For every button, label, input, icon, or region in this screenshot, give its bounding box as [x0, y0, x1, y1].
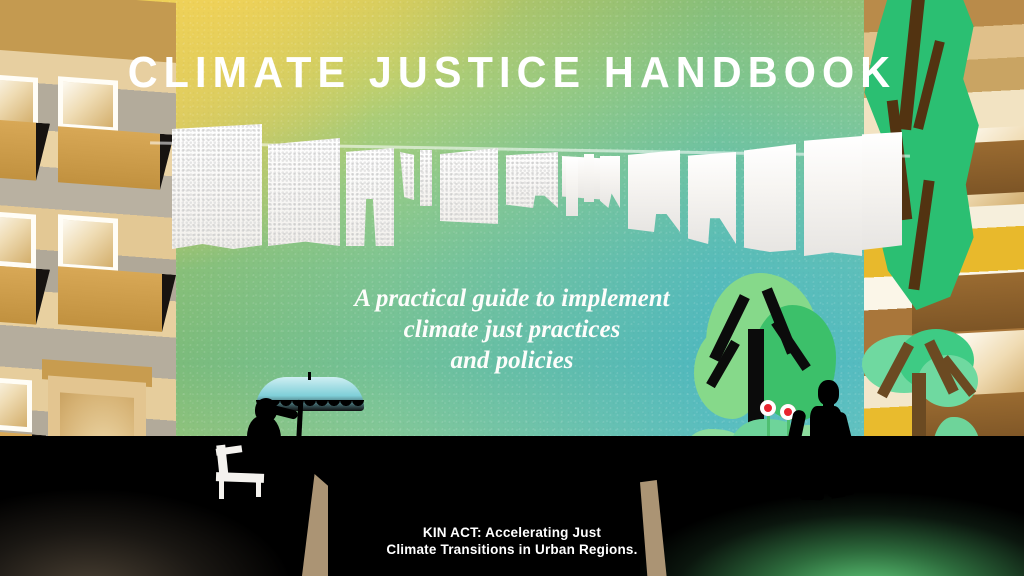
cover-caption: KIN ACT: Accelerating Just Climate Trans…: [0, 524, 1024, 558]
laundry-item-towel: [744, 144, 796, 252]
laundry-item-towel: [506, 152, 558, 208]
flower-head: [760, 400, 776, 416]
man-shoe: [800, 492, 824, 500]
laundry-item-shirt: [440, 148, 498, 224]
window: [0, 377, 32, 433]
laundry-item-trousers: [600, 156, 620, 208]
chair-leg: [219, 479, 224, 499]
book-cover: CLIMATE JUSTICE HANDBOOK A practical gui…: [0, 0, 1024, 576]
laundry-item-bedsheet: [862, 132, 902, 250]
laundry-item-shirt: [420, 150, 432, 206]
laundry-item-bedsheet: [172, 124, 262, 249]
caption-line-1: KIN ACT: Accelerating Just: [0, 524, 1024, 541]
laundry-item-shirt: [628, 150, 680, 232]
laundry-item-shirt: [566, 158, 578, 216]
laundry-item-bedsheet: [268, 138, 340, 246]
window: [58, 214, 118, 272]
laundry-item-bedsheet: [804, 136, 862, 256]
chair-leg: [256, 479, 261, 497]
caption-line-2: Climate Transitions in Urban Regions.: [0, 541, 1024, 558]
white-chair: [210, 445, 266, 495]
balcony: [0, 118, 36, 180]
cover-title: CLIMATE JUSTICE HANDBOOK: [31, 48, 994, 98]
balcony: [58, 126, 160, 189]
subtitle-line-1: A practical guide to implement: [0, 283, 1024, 314]
window: [0, 211, 36, 269]
parasol-finial: [308, 372, 311, 380]
laundry-item-shirt: [584, 154, 594, 202]
